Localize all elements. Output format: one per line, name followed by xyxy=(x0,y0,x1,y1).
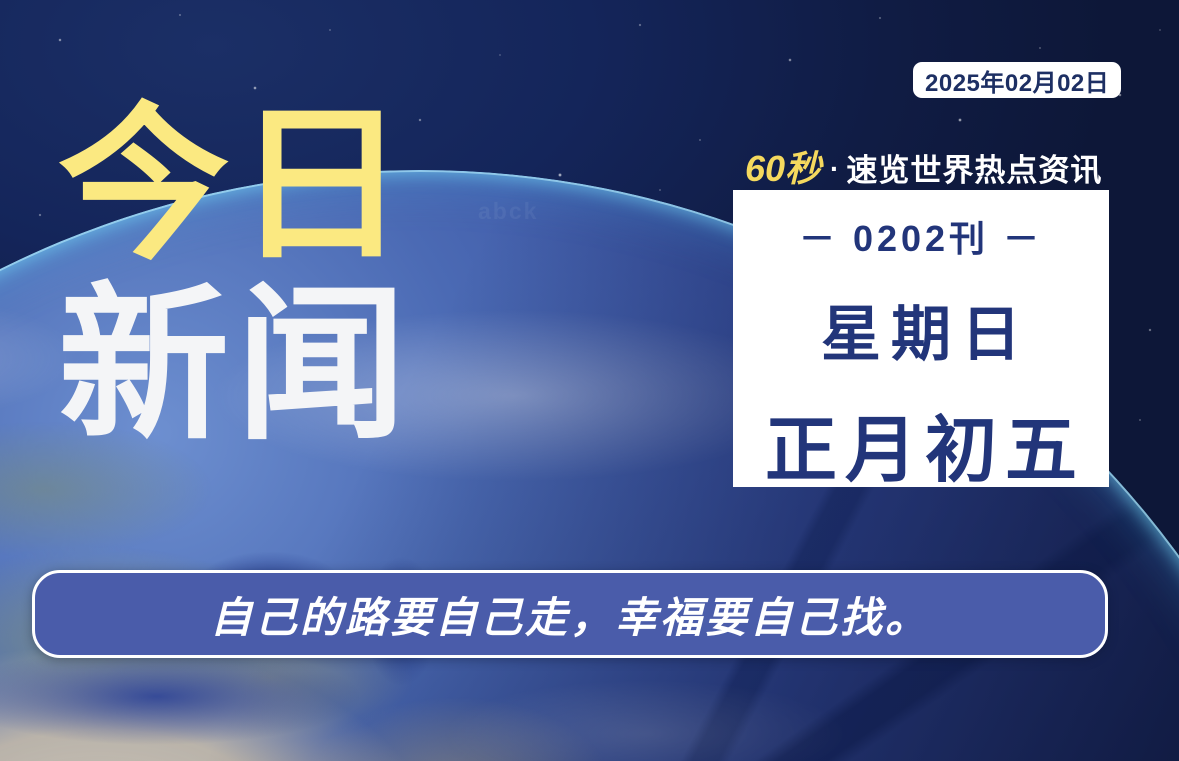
date-badge: 2025年02月02日 xyxy=(913,62,1121,98)
quote-banner: 自己的路要自己走，幸福要自己找。 xyxy=(32,570,1108,658)
news-poster: abck 今日 新闻 2025年02月02日 60秒 · 速览世界热点资讯 － … xyxy=(0,0,1179,761)
quote-text: 自己的路要自己走，幸福要自己找。 xyxy=(210,584,930,645)
info-card: － 0202刊 － 星期日 正月初五 xyxy=(733,190,1109,487)
tagline-separator: · xyxy=(830,153,839,185)
brand-title: 今日 新闻 xyxy=(58,96,478,456)
site-watermark: abck xyxy=(478,198,538,225)
brand-title-line-2: 新闻 xyxy=(58,276,486,456)
lunar-date-label: 正月初五 xyxy=(757,391,1085,496)
issue-number: － 0202刊 － xyxy=(799,210,1043,262)
weekday-label: 星期日 xyxy=(811,286,1031,373)
tagline-seconds: 60秒 xyxy=(745,140,821,192)
brand-title-line-1: 今日 xyxy=(58,96,486,276)
tagline: 60秒 · 速览世界热点资讯 xyxy=(745,140,1102,192)
tagline-description: 速览世界热点资讯 xyxy=(846,145,1102,190)
